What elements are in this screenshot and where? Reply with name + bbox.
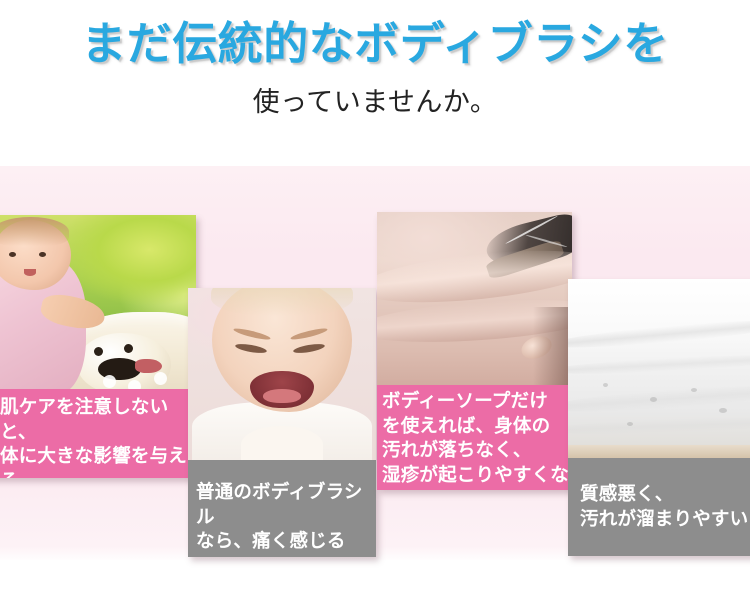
baby-eye-left: [9, 252, 16, 257]
fabric-speck: [603, 383, 608, 387]
fabric-speck: [719, 408, 727, 413]
promo-page: まだ伝統的なボディブラシを 使っていませんか。: [0, 0, 750, 593]
photo-baby-petting-dog: [0, 215, 196, 389]
photo-art-grass: [0, 215, 196, 389]
flower-shape: [154, 372, 167, 385]
photo-white-towel: [568, 279, 750, 458]
flower-shape: [103, 375, 116, 388]
headline-main: まだ伝統的なボディブラシを: [0, 18, 750, 70]
edge-shadow: [533, 307, 572, 385]
photo-art-crying: [188, 288, 376, 460]
crying-baby-bib: [241, 426, 324, 460]
caption-towel: 質感悪く、 汚れが溜まりやすい: [568, 458, 750, 556]
fabric-streak: [568, 351, 750, 376]
caption-skin: ボディーソープだけ を使えれば、身体の 汚れが落ちなく、 湿疹が起こりやすくなる: [377, 385, 572, 490]
headline-area: まだ伝統的なボディブラシを: [0, 18, 750, 70]
panel-baby-dog: 肌ケアを注意しないと、 体に大きな影響を与える: [0, 215, 196, 478]
headline-sub: 使っていませんか。: [0, 86, 750, 118]
panel-crying-baby: 普通のボディブラシル なら、痛く感じる: [188, 288, 376, 557]
crying-baby-hair: [211, 288, 354, 316]
panel-towel: 質感悪く、 汚れが溜まりやすい: [568, 279, 750, 556]
photo-art-skin: [377, 212, 572, 385]
photo-crying-baby: [188, 288, 376, 460]
flower-shape: [128, 380, 141, 389]
fabric-streak: [568, 414, 750, 437]
baby-hair-shape: [0, 217, 69, 247]
photo-skin-closeup: [377, 212, 572, 385]
wood-surface: [568, 445, 750, 458]
photo-art-towel: [568, 279, 750, 458]
caption-crying-baby: 普通のボディブラシル なら、痛く感じる: [188, 460, 376, 557]
baby-eye-right: [39, 252, 46, 257]
crying-baby-tongue: [263, 389, 301, 403]
fabric-streak: [568, 315, 750, 352]
dog-eye-right: [124, 344, 133, 353]
background-bottom: [0, 560, 750, 593]
panel-skin-closeup: ボディーソープだけ を使えれば、身体の 汚れが落ちなく、 湿疹が起こりやすくなる: [377, 212, 572, 490]
caption-baby-dog: 肌ケアを注意しないと、 体に大きな影響を与える: [0, 389, 196, 478]
